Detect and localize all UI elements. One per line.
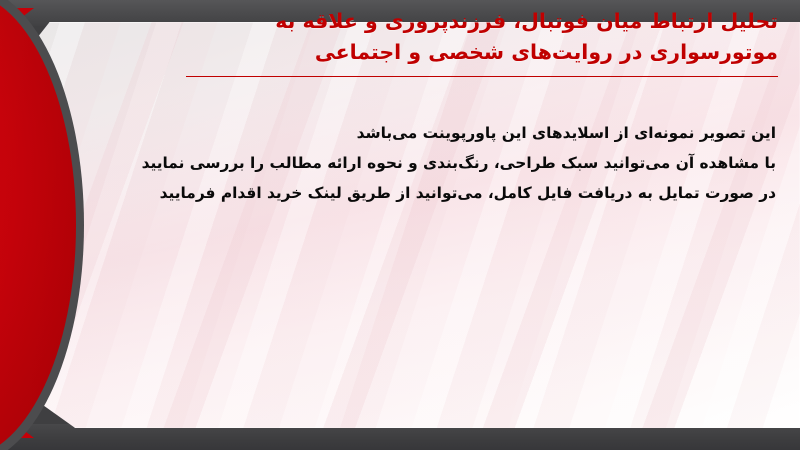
slide-canvas: تحلیل ارتباط میان فوتبال، فرزندپروری و ع… xyxy=(0,0,800,450)
body-text-line-3: در صورت تمایل به دریافت فایل کامل، می‌تو… xyxy=(156,178,776,208)
slide-content-panel xyxy=(24,22,800,428)
body-text-line-1: این تصویر نمونه‌ای از اسلایدهای این پاور… xyxy=(156,118,776,148)
title-underline-rule xyxy=(186,76,778,77)
panel-diagonal-streaks-overlay-secondary xyxy=(24,22,800,428)
slide-body-text: این تصویر نمونه‌ای از اسلایدهای این پاور… xyxy=(156,118,776,208)
slide-title-line-2: موتورسواری در روایت‌های شخصی و اجتماعی xyxy=(178,37,778,68)
panel-diagonal-streaks-overlay xyxy=(24,22,800,428)
panel-pink-tint-overlay xyxy=(24,22,800,428)
slide-title-line-1: تحلیل ارتباط میان فوتبال، فرزندپروری و ع… xyxy=(178,6,778,37)
slide-title: تحلیل ارتباط میان فوتبال، فرزندپروری و ع… xyxy=(178,6,778,68)
body-text-line-2: با مشاهده آن می‌توانید سبک طراحی، رنگ‌بن… xyxy=(156,148,776,178)
